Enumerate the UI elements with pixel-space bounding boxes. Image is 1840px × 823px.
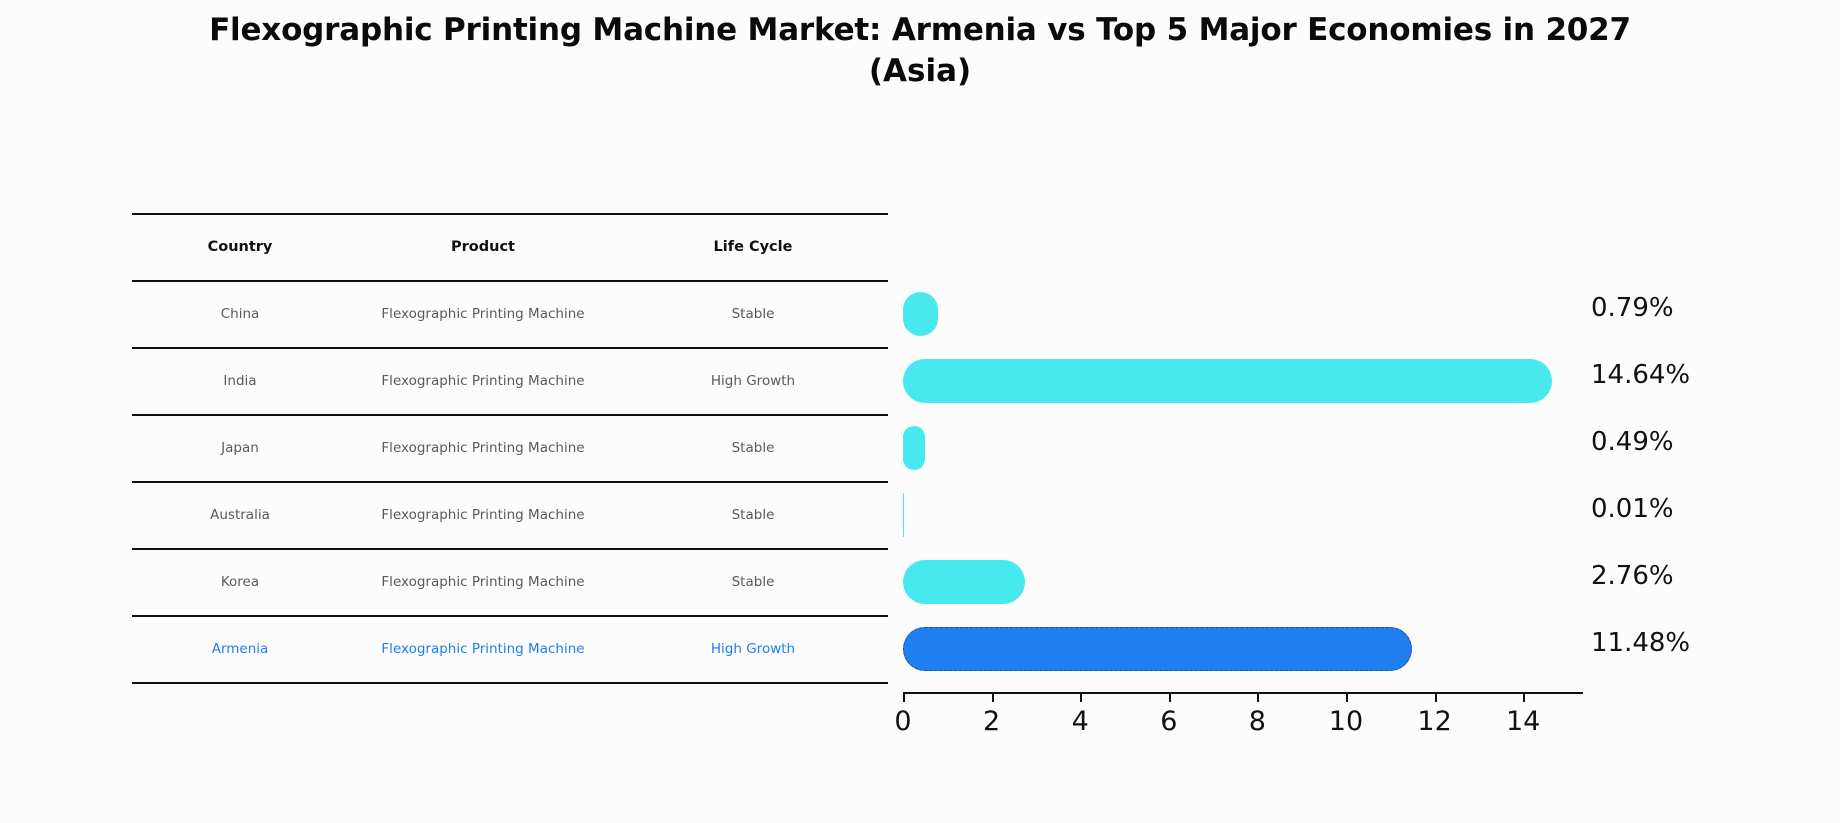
bar[interactable]	[903, 560, 1025, 604]
bar-highlight[interactable]	[903, 627, 1412, 671]
table-row[interactable]: IndiaFlexographic Printing MachineHigh G…	[132, 347, 888, 414]
bar-track: 0.79%	[903, 280, 1583, 347]
x-axis-tick	[1257, 694, 1259, 702]
table-cell-product: Flexographic Printing Machine	[348, 440, 618, 456]
column-header-country: Country	[132, 239, 348, 255]
table-row[interactable]: ArmeniaFlexographic Printing MachineHigh…	[132, 615, 888, 682]
chart-figure: Flexographic Printing Machine Market: Ar…	[0, 0, 1840, 823]
column-header-life-cycle: Life Cycle	[618, 239, 888, 255]
chart-title: Flexographic Printing Machine Market: Ar…	[0, 10, 1840, 92]
table-cell-product: Flexographic Printing Machine	[348, 641, 618, 657]
table-cell-life-cycle: Stable	[618, 574, 888, 590]
x-axis-tick	[903, 694, 905, 702]
chart-title-line-1: Flexographic Printing Machine Market: Ar…	[0, 10, 1840, 51]
bar-value-label: 2.76%	[1591, 561, 1674, 591]
x-axis-tick-label: 14	[1506, 706, 1540, 737]
x-axis-tick-label: 4	[1072, 706, 1089, 737]
bar-value-label: 0.49%	[1591, 427, 1674, 457]
table-cell-country: India	[132, 373, 348, 389]
chart-title-line-2: (Asia)	[0, 51, 1840, 92]
table-cell-life-cycle: Stable	[618, 306, 888, 322]
x-axis-tick-label: 6	[1160, 706, 1177, 737]
table-cell-country: Armenia	[132, 641, 348, 657]
x-axis-tick-label: 10	[1329, 706, 1363, 737]
bar-value-label: 0.01%	[1591, 494, 1674, 524]
x-axis-tick	[992, 694, 994, 702]
bar[interactable]	[903, 292, 938, 336]
x-axis-tick-label: 0	[894, 706, 911, 737]
bar-track: 14.64%	[903, 347, 1583, 414]
x-axis-tick	[1523, 694, 1525, 702]
table-cell-product: Flexographic Printing Machine	[348, 373, 618, 389]
table-cell-product: Flexographic Printing Machine	[348, 507, 618, 523]
table-row[interactable]: JapanFlexographic Printing MachineStable	[132, 414, 888, 481]
bar-value-label: 14.64%	[1591, 360, 1690, 390]
table-cell-country: Japan	[132, 440, 348, 456]
x-axis: 02468101214	[903, 692, 1583, 694]
table-cell-life-cycle: Stable	[618, 440, 888, 456]
table-cell-country: Korea	[132, 574, 348, 590]
table-row[interactable]: KoreaFlexographic Printing MachineStable	[132, 548, 888, 615]
x-axis-tick	[1346, 694, 1348, 702]
table-header-row: CountryProductLife Cycle	[132, 213, 888, 280]
table-cell-product: Flexographic Printing Machine	[348, 306, 618, 322]
bar-value-label: 11.48%	[1591, 628, 1690, 658]
table-cell-life-cycle: High Growth	[618, 641, 888, 657]
x-axis-tick-label: 2	[983, 706, 1000, 737]
table-cell-life-cycle: High Growth	[618, 373, 888, 389]
bar-chart-area: 0.79%14.64%0.49%0.01%2.76%11.48%	[903, 213, 1583, 693]
x-axis-tick	[1080, 694, 1082, 702]
x-axis-tick	[1435, 694, 1437, 702]
table-row[interactable]: ChinaFlexographic Printing MachineStable	[132, 280, 888, 347]
table-cell-country: Australia	[132, 507, 348, 523]
x-axis-tick	[1169, 694, 1171, 702]
country-table: CountryProductLife CycleChinaFlexographi…	[132, 213, 888, 693]
table-cell-country: China	[132, 306, 348, 322]
table-cell-life-cycle: Stable	[618, 507, 888, 523]
table-cell-product: Flexographic Printing Machine	[348, 574, 618, 590]
bar[interactable]	[903, 359, 1552, 403]
bar[interactable]	[903, 426, 925, 470]
bar-value-label: 0.79%	[1591, 293, 1674, 323]
table-row[interactable]: AustraliaFlexographic Printing MachineSt…	[132, 481, 888, 548]
x-axis-tick-label: 8	[1249, 706, 1266, 737]
bar-track: 0.49%	[903, 414, 1583, 481]
column-header-product: Product	[348, 239, 618, 255]
bar-track: 0.01%	[903, 481, 1583, 548]
x-axis-tick-label: 12	[1417, 706, 1451, 737]
bar-track: 2.76%	[903, 548, 1583, 615]
table-row-rule	[132, 682, 888, 684]
bar-track: 11.48%	[903, 615, 1583, 682]
